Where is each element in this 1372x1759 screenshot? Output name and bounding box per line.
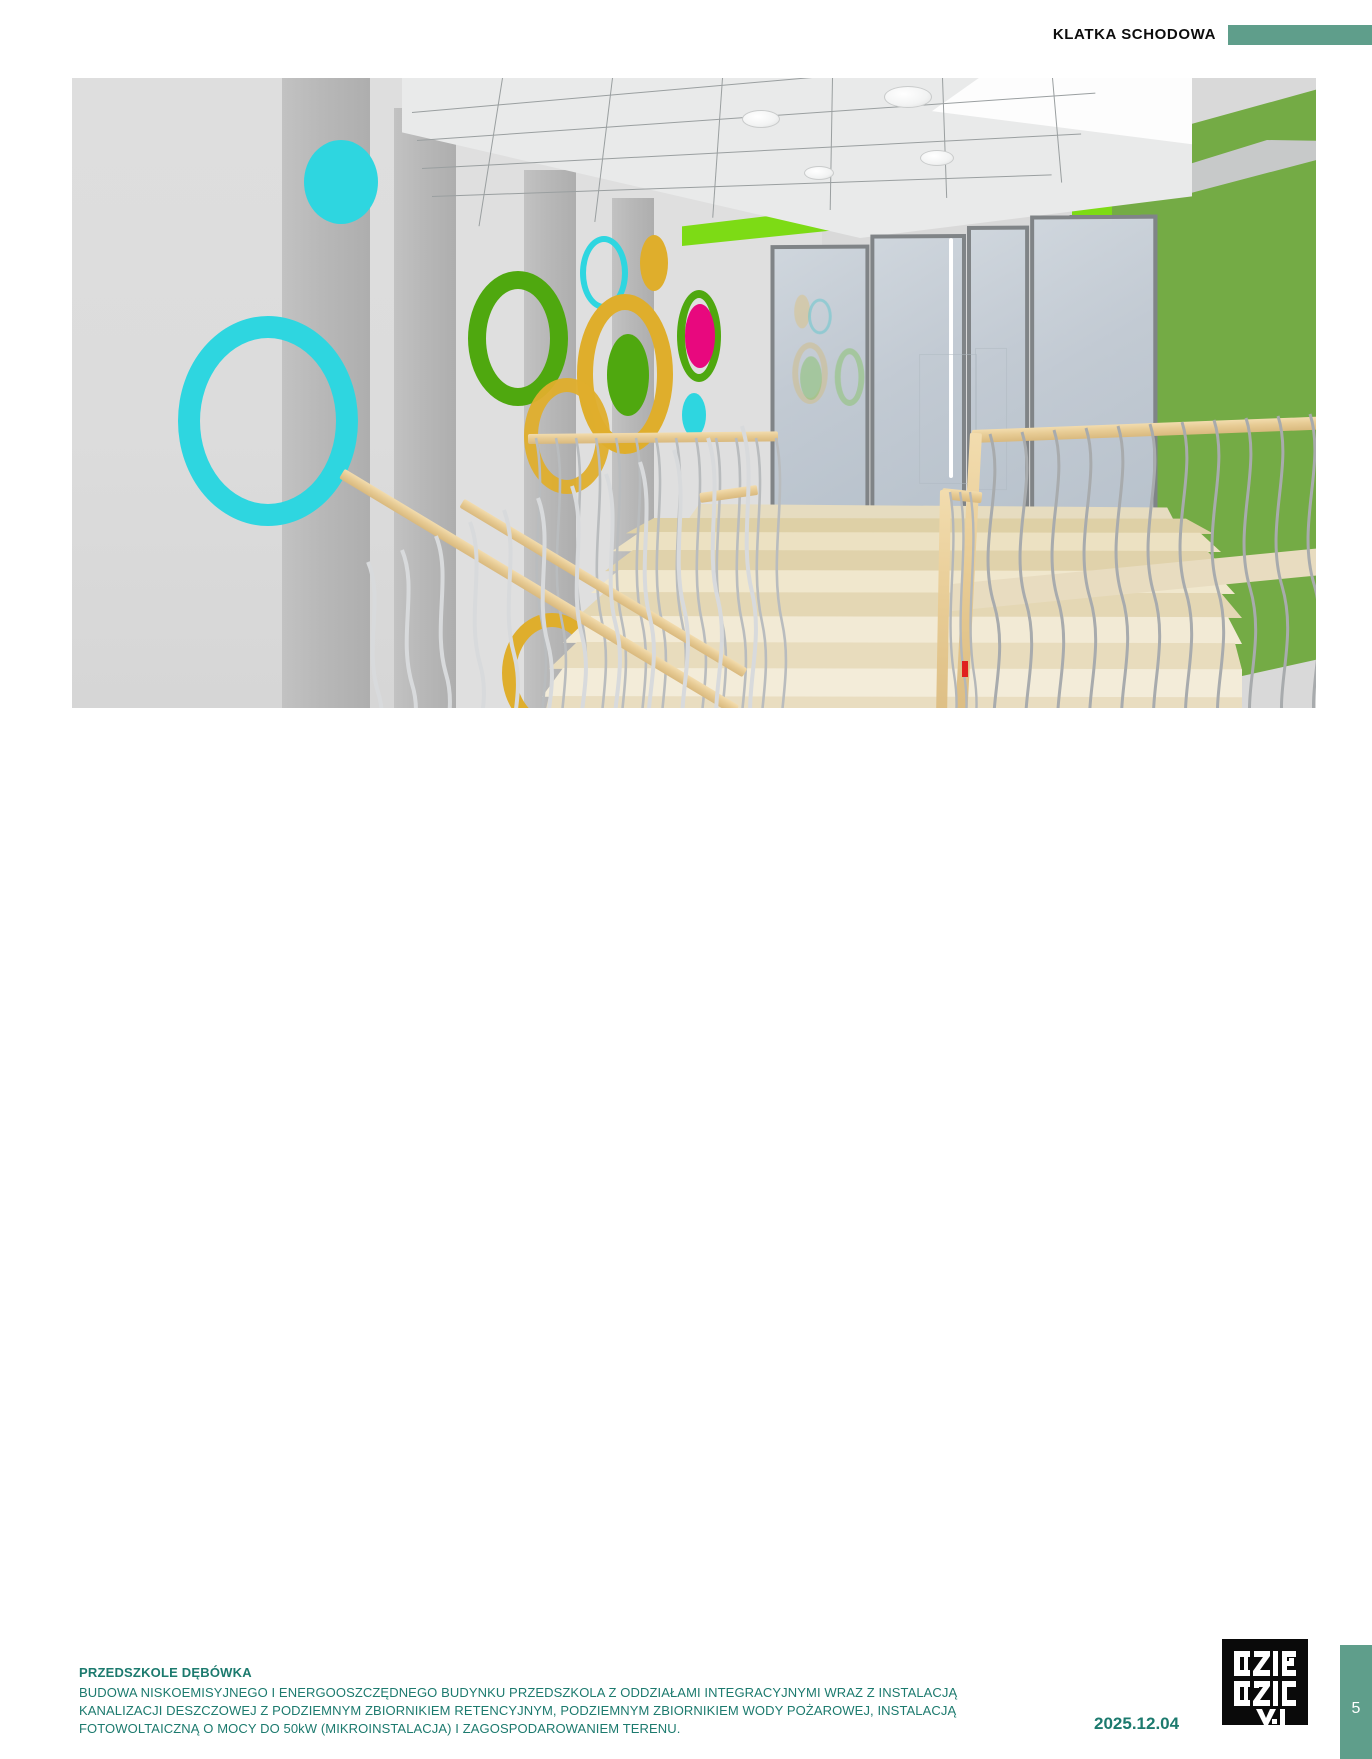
ceiling-downlight [742,110,780,128]
deco-circle-cyan-small [682,393,706,437]
project-description-line-3: FOTOWOLTAICZNĄ O MOCY DO 50kW (MIKROINST… [79,1721,1071,1736]
deco-circle-gold-filled-top [640,235,668,291]
project-name: PRZEDSZKOLE DĘBÓWKA [79,1665,252,1680]
red-marker [962,661,968,677]
balusters-left-descending [362,478,782,708]
deco-circle-cyan-large [178,316,358,526]
slide-footer: PRZEDSZKOLE DĘBÓWKA BUDOWA NISKOEMISYJNE… [0,820,1372,939]
project-description-line-2: KANALIZACJI DESZCZOWEJ Z PODZIEMNYM ZBIO… [79,1703,1071,1718]
dziedzic-vi-logo [1222,1639,1308,1725]
header-accent-bar [1228,25,1372,45]
deco-circle-green-filled-center [607,334,649,416]
ceiling-downlight [884,86,932,108]
glass-reflection-circle [800,356,822,400]
glass-reflection-circle [835,348,865,406]
project-description-line-1: BUDOWA NISKOEMISYJNEGO I ENERGOOSZCZĘDNE… [79,1685,1071,1700]
page-title: KLATKA SCHODOWA [1053,26,1216,43]
stairwell-render-image [72,78,1316,708]
glass-reflection-circle [808,298,832,334]
deco-circle-cyan-filled [304,140,378,224]
page-number: 5 [1340,1700,1372,1718]
deco-circle-magenta-filled [685,304,715,368]
ceiling-downlight [920,150,954,166]
balusters-right [972,434,1316,708]
render-stage [72,78,1316,708]
slide-header: KLATKA SCHODOWA [0,0,1372,56]
ceiling-downlight [804,166,834,180]
slide-date: 2025.12.04 [1094,1714,1179,1734]
